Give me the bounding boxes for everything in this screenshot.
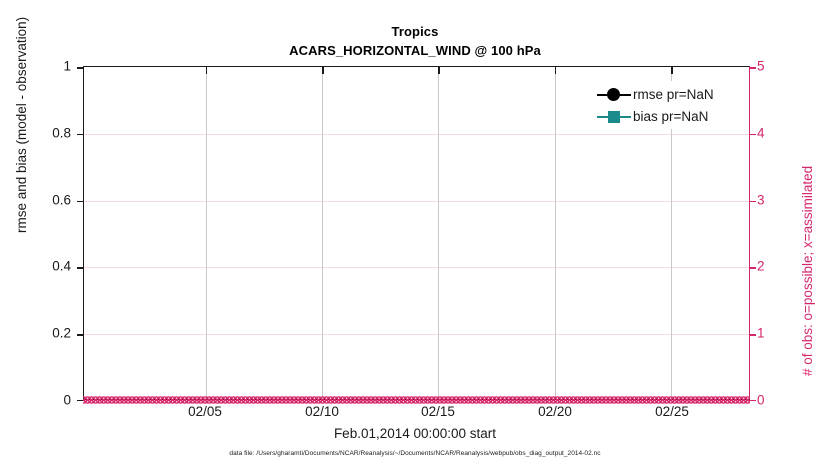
tick-right [749, 134, 756, 136]
gridline-vertical [322, 67, 323, 399]
tick-right [749, 400, 756, 402]
tick-left [77, 334, 84, 336]
ytick-label-left: 0.2 [52, 326, 71, 341]
plot-area: rmse pr=NaN bias pr=NaN [83, 66, 750, 400]
chart-title-line1: Tropics [0, 22, 830, 41]
ytick-label-left: 0.6 [52, 192, 71, 207]
gridline-horizontal [84, 201, 749, 202]
filled-square-marker-icon [608, 111, 620, 123]
tick-left [77, 267, 84, 269]
y-axis-title-right: # of obs: o=possible; x=assimilated [800, 166, 815, 376]
ytick-label-left: 0.8 [52, 125, 71, 140]
gridline-vertical [206, 67, 207, 399]
tick-top [438, 67, 440, 74]
gridline-horizontal [84, 334, 749, 335]
xtick-label: 02/05 [188, 404, 222, 419]
xtick-label: 02/20 [538, 404, 572, 419]
tick-top [671, 67, 673, 74]
legend-item-rmse: rmse pr=NaN [597, 83, 747, 105]
tick-right [749, 334, 756, 336]
legend-label-rmse: rmse pr=NaN [631, 87, 714, 102]
x-axis-title: Feb.01,2014 00:00:00 start [0, 426, 830, 441]
tick-top [555, 67, 557, 74]
data-file-caption: data file: /Users/gharamti/Documents/NCA… [0, 450, 830, 457]
ytick-label-right: 2 [757, 259, 765, 274]
gridline-horizontal [84, 134, 749, 135]
tick-left [77, 201, 84, 203]
legend-symbol-rmse [597, 84, 631, 104]
tick-top [206, 67, 208, 74]
xtick-label: 02/25 [655, 404, 689, 419]
ytick-label-right: 4 [757, 125, 765, 140]
chart-figure: Tropics ACARS_HORIZONTAL_WIND @ 100 hPa [0, 0, 830, 470]
ytick-label-right: 5 [757, 59, 765, 74]
xtick-label: 02/15 [421, 404, 455, 419]
tick-top [322, 67, 324, 74]
y-axis-title-left: rmse and bias (model - observation) [14, 17, 29, 233]
tick-right [749, 201, 756, 203]
ytick-label-left: 1 [63, 59, 71, 74]
ytick-label-left: 0.4 [52, 259, 71, 274]
legend-label-bias: bias pr=NaN [631, 109, 708, 124]
tick-left [77, 67, 84, 69]
gridline-vertical [555, 67, 556, 399]
ytick-label-right: 1 [757, 326, 765, 341]
xtick-label: 02/10 [305, 404, 339, 419]
legend-item-bias: bias pr=NaN [597, 105, 747, 127]
gridline-horizontal [84, 267, 749, 268]
legend: rmse pr=NaN bias pr=NaN [597, 81, 747, 129]
chart-title-line2: ACARS_HORIZONTAL_WIND @ 100 hPa [0, 41, 830, 60]
chart-title: Tropics ACARS_HORIZONTAL_WIND @ 100 hPa [0, 22, 830, 60]
ytick-label-right: 0 [757, 393, 765, 408]
filled-circle-marker-icon [607, 88, 620, 101]
tick-right [749, 267, 756, 269]
tick-left [77, 134, 84, 136]
tick-right [749, 67, 756, 69]
tick-left [77, 400, 84, 402]
legend-symbol-bias [597, 106, 631, 126]
ytick-label-right: 3 [757, 192, 765, 207]
ytick-label-left: 0 [63, 393, 71, 408]
gridline-vertical [438, 67, 439, 399]
